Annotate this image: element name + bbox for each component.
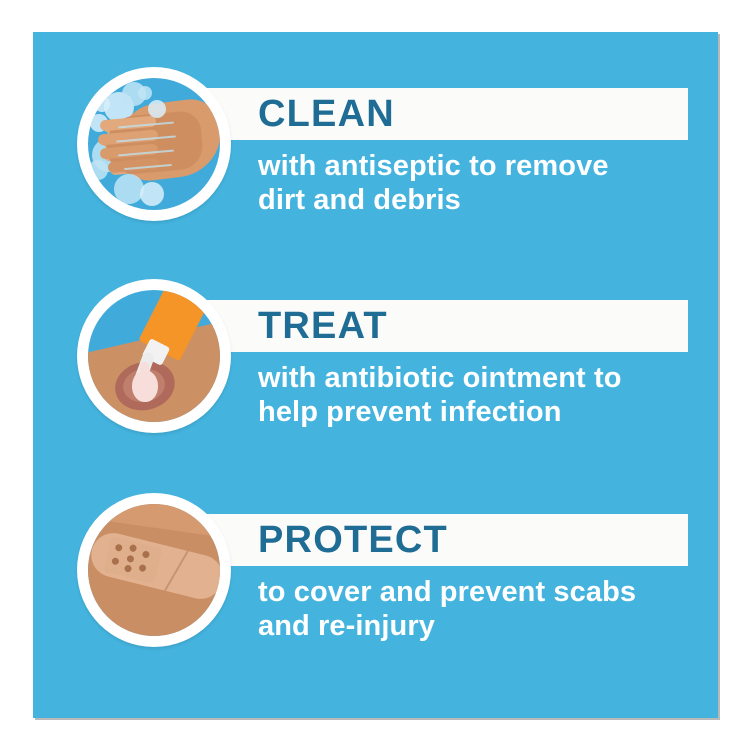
step-body-line: to cover and prevent scabs xyxy=(258,575,703,609)
step-body-line: with antiseptic to remove xyxy=(258,149,703,183)
step-body-treat: with antibiotic ointment to help prevent… xyxy=(258,361,703,429)
step-body-line: and re-injury xyxy=(258,609,703,643)
step-body-line: with antibiotic ointment to xyxy=(258,361,703,395)
step-title-protect: PROTECT xyxy=(258,517,448,563)
step-body-protect: to cover and prevent scabs and re-injury xyxy=(258,575,703,643)
washing-hands-icon xyxy=(88,78,220,210)
step-title-clean: CLEAN xyxy=(258,91,395,137)
icon-clean xyxy=(77,67,231,221)
icon-protect xyxy=(77,493,231,647)
adhesive-bandage-icon xyxy=(88,504,220,636)
step-body-line: dirt and debris xyxy=(258,183,703,217)
ointment-tube-icon xyxy=(88,290,220,422)
step-title-treat: TREAT xyxy=(258,303,388,349)
step-body-clean: with antiseptic to remove dirt and debri… xyxy=(258,149,703,217)
poster-canvas: CLEAN with antiseptic to remove dirt and… xyxy=(0,0,750,750)
instruction-panel: CLEAN with antiseptic to remove dirt and… xyxy=(33,32,718,718)
icon-treat xyxy=(77,279,231,433)
step-body-line: help prevent infection xyxy=(258,395,703,429)
